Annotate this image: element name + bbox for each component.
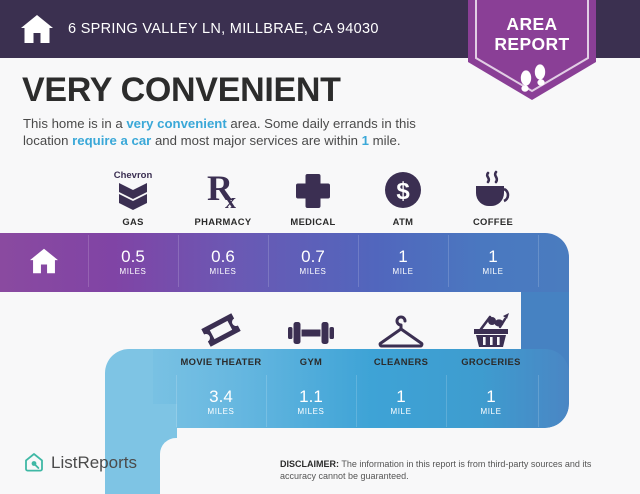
distance-values-row-1: 0.5 MILES 0.6 MILES 0.7 MILES 1 MILE 1 M… bbox=[88, 235, 538, 287]
badge-line-1: AREA bbox=[468, 14, 596, 34]
distance-value: 1.1 bbox=[299, 387, 323, 406]
category-label: COFFEE bbox=[473, 216, 513, 227]
distance-value: 1 bbox=[486, 387, 495, 406]
category-atm: $ ATM bbox=[358, 166, 448, 227]
distance-cell-gym: 1.1 MILES bbox=[266, 375, 356, 427]
distance-unit: MILE bbox=[390, 407, 411, 416]
category-gas: Chevron GAS bbox=[88, 166, 178, 227]
subtitle-highlight-1: very convenient bbox=[126, 116, 226, 131]
disclaimer-label: DISCLAIMER: bbox=[280, 459, 339, 469]
distance-value: 1 bbox=[396, 387, 405, 406]
rx-icon: R x bbox=[203, 166, 243, 210]
category-coffee: COFFEE bbox=[448, 166, 538, 227]
distance-cell-movie-theater: 3.4 MILES bbox=[176, 375, 266, 427]
distance-cell-medical: 0.7 MILES bbox=[268, 235, 358, 287]
home-icon bbox=[29, 247, 59, 275]
column-divider bbox=[538, 375, 539, 427]
category-movie-theater: MOVIE THEATER bbox=[176, 306, 266, 367]
badge-title: AREA REPORT bbox=[468, 14, 596, 54]
distance-cell-gas: 0.5 MILES bbox=[88, 235, 178, 287]
distance-unit: MILES bbox=[119, 267, 146, 276]
chevron-gas-icon: Chevron bbox=[111, 166, 155, 210]
distance-unit: MILE bbox=[482, 267, 503, 276]
badge-line-2: REPORT bbox=[468, 34, 596, 54]
disclaimer: DISCLAIMER: The information in this repo… bbox=[280, 458, 615, 482]
svg-text:x: x bbox=[225, 188, 236, 210]
category-icons-row-2: MOVIE THEATER GYM CLEANERS bbox=[176, 306, 538, 367]
listreports-house-icon bbox=[24, 452, 44, 473]
grocery-basket-icon bbox=[469, 306, 513, 350]
distance-unit: MILES bbox=[297, 407, 324, 416]
category-groceries: GROCERIES bbox=[446, 306, 536, 367]
category-pharmacy: R x PHARMACY bbox=[178, 166, 268, 227]
distance-cell-groceries: 1 MILE bbox=[446, 375, 536, 427]
distance-value: 0.7 bbox=[301, 247, 325, 266]
distance-unit: MILE bbox=[480, 407, 501, 416]
svg-text:$: $ bbox=[396, 178, 410, 205]
category-label: GAS bbox=[122, 216, 143, 227]
clothes-hanger-icon bbox=[378, 306, 424, 350]
category-cleaners: CLEANERS bbox=[356, 306, 446, 367]
distance-cell-cleaners: 1 MILE bbox=[356, 375, 446, 427]
home-marker bbox=[0, 235, 88, 287]
area-report-badge: AREA REPORT bbox=[468, 0, 596, 100]
column-divider bbox=[88, 235, 89, 287]
area-report-page: 6 SPRING VALLEY LN, MILLBRAE, CA 94030 A… bbox=[0, 0, 640, 494]
column-divider bbox=[266, 375, 267, 427]
distance-cell-pharmacy: 0.6 MILES bbox=[178, 235, 268, 287]
subtitle-highlight-3: 1 bbox=[362, 133, 369, 148]
distance-value: 3.4 bbox=[209, 387, 233, 406]
distance-value: 0.6 bbox=[211, 247, 235, 266]
distance-unit: MILE bbox=[392, 267, 413, 276]
column-divider bbox=[538, 235, 539, 287]
distance-cell-atm: 1 MILE bbox=[358, 235, 448, 287]
coffee-cup-icon bbox=[471, 166, 515, 210]
subtitle-part-1: This home is in a bbox=[23, 116, 126, 131]
page-title: VERY CONVENIENT bbox=[22, 71, 341, 110]
column-divider bbox=[448, 235, 449, 287]
category-gym: GYM bbox=[266, 306, 356, 367]
column-divider bbox=[358, 235, 359, 287]
distance-unit: MILES bbox=[209, 267, 236, 276]
category-label: MOVIE THEATER bbox=[181, 356, 262, 367]
distance-unit: MILES bbox=[207, 407, 234, 416]
category-label: CLEANERS bbox=[374, 356, 428, 367]
dollar-coin-icon: $ bbox=[383, 166, 423, 210]
column-divider bbox=[268, 235, 269, 287]
distance-unit: MILES bbox=[299, 267, 326, 276]
category-icons-row-1: Chevron GAS R x PHARMACY MEDI bbox=[88, 166, 538, 227]
medical-cross-icon bbox=[294, 166, 332, 210]
subtitle-part-3: and most major services are within bbox=[151, 133, 361, 148]
movie-ticket-icon bbox=[200, 306, 242, 350]
property-address: 6 SPRING VALLEY LN, MILLBRAE, CA 94030 bbox=[68, 21, 379, 37]
distance-value: 1 bbox=[488, 247, 497, 266]
page-subtitle: This home is in a very convenient area. … bbox=[23, 115, 453, 149]
distance-values-row-2: 3.4 MILES 1.1 MILES 1 MILE 1 MILE bbox=[176, 375, 538, 427]
distance-value: 0.5 bbox=[121, 247, 145, 266]
subtitle-part-4: mile. bbox=[369, 133, 401, 148]
listreports-logo-text: ListReports bbox=[51, 453, 137, 473]
distance-value: 1 bbox=[398, 247, 407, 266]
home-icon bbox=[20, 13, 54, 45]
category-label: GROCERIES bbox=[461, 356, 520, 367]
distance-cell-coffee: 1 MILE bbox=[448, 235, 538, 287]
category-label: MEDICAL bbox=[290, 216, 335, 227]
category-label: GYM bbox=[300, 356, 322, 367]
dumbbell-icon bbox=[288, 306, 334, 350]
column-divider bbox=[176, 375, 177, 427]
column-divider bbox=[178, 235, 179, 287]
category-label: ATM bbox=[393, 216, 414, 227]
column-divider bbox=[446, 375, 447, 427]
category-medical: MEDICAL bbox=[268, 166, 358, 227]
listreports-logo[interactable]: ListReports bbox=[24, 452, 137, 473]
column-divider bbox=[356, 375, 357, 427]
svg-text:Chevron: Chevron bbox=[114, 170, 153, 181]
subtitle-highlight-2: require a car bbox=[72, 133, 151, 148]
category-label: PHARMACY bbox=[195, 216, 252, 227]
